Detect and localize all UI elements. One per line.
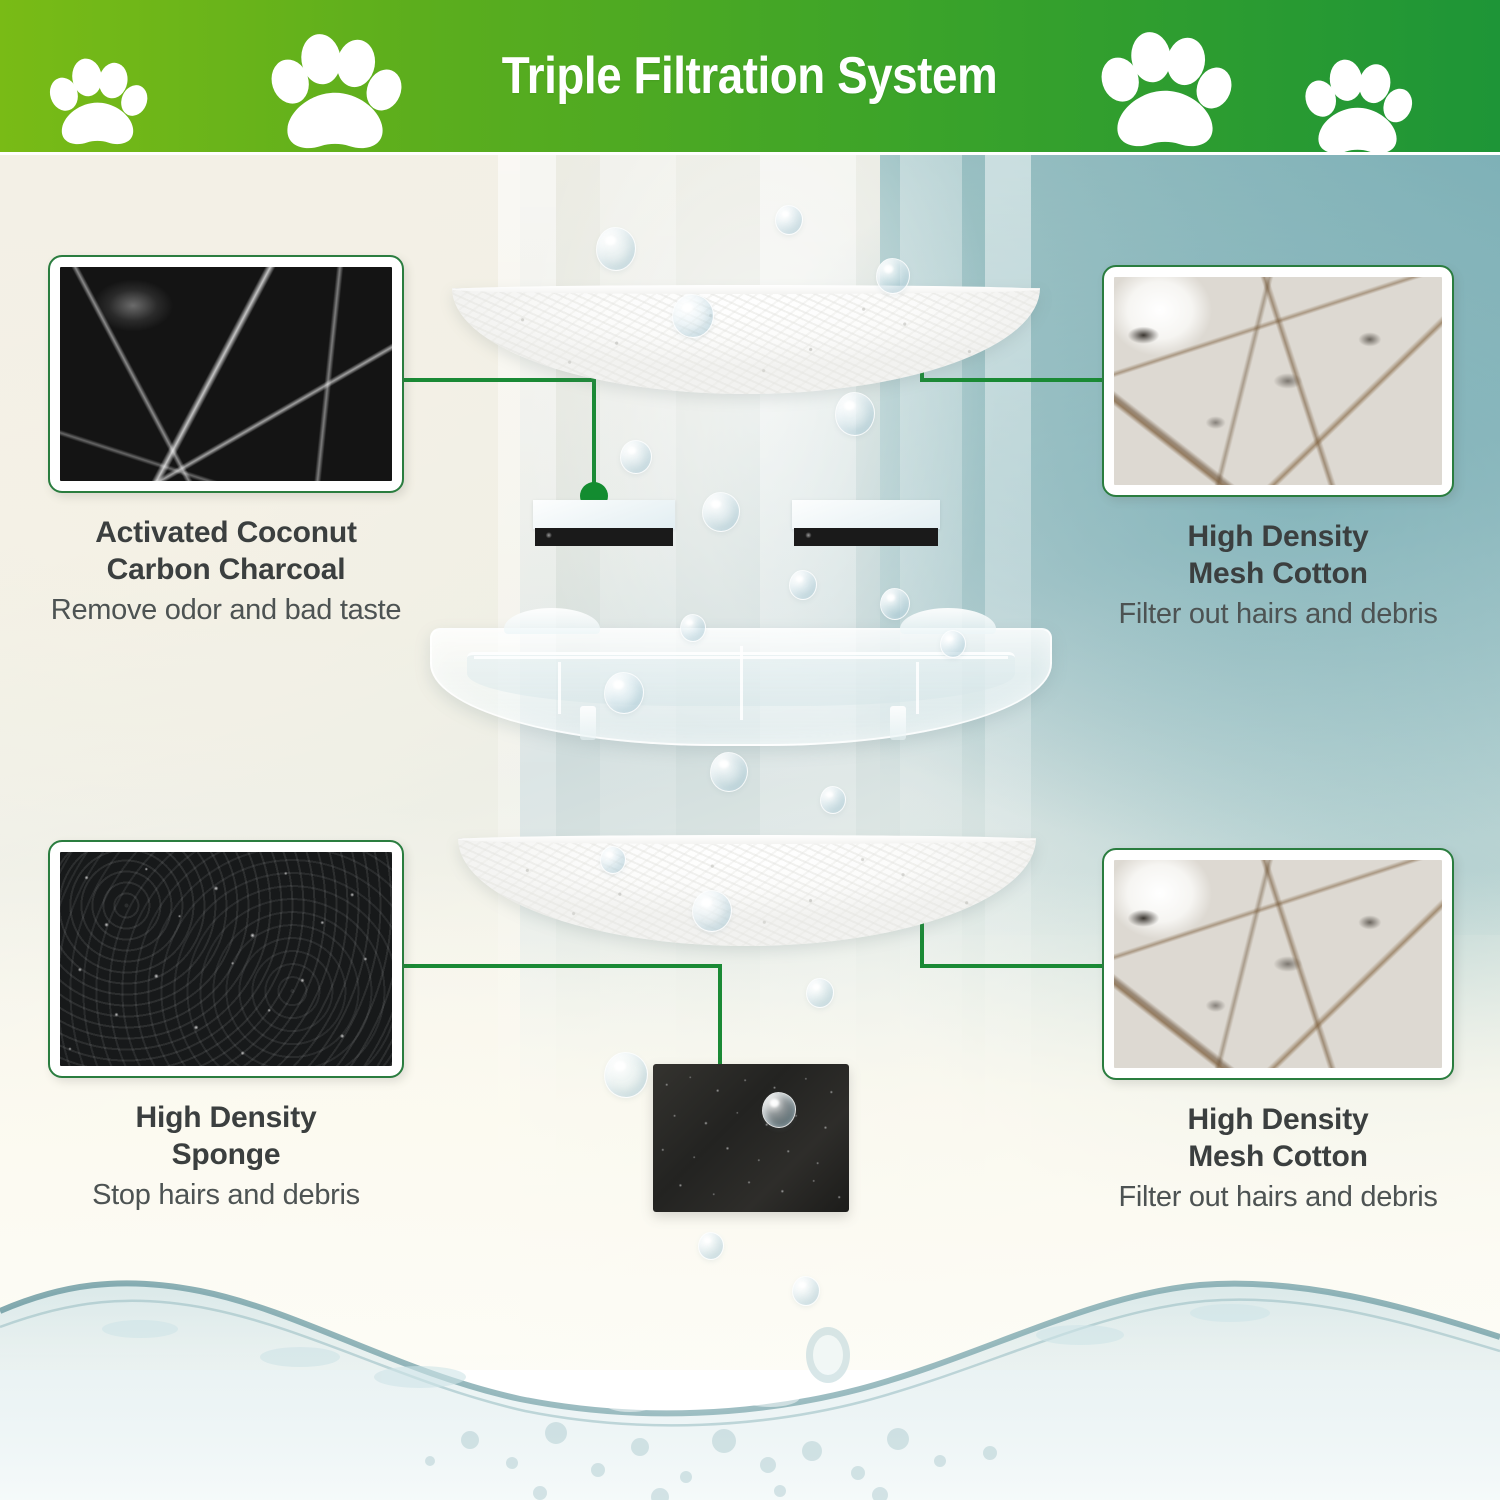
mesh-cotton-pad-bottom-edge bbox=[458, 835, 1036, 844]
card-title: High Density Sponge bbox=[48, 1100, 404, 1173]
water-bubble bbox=[806, 978, 834, 1008]
water-bubble bbox=[710, 752, 748, 792]
info-card-activated-carbon[interactable]: Activated Coconut Carbon Charcoal Remove… bbox=[48, 255, 404, 628]
water-bubble bbox=[600, 846, 626, 874]
card-title-line2: Mesh Cotton bbox=[1102, 1139, 1454, 1176]
card-title-line1: High Density bbox=[1102, 519, 1454, 556]
black-sponge-photo bbox=[60, 852, 392, 1066]
card-title-line1: Activated Coconut bbox=[48, 515, 404, 552]
water-surface-wave bbox=[0, 1265, 1500, 1500]
water-bubble bbox=[940, 630, 966, 658]
water-bubble bbox=[775, 205, 803, 235]
activated-carbon-strip-left bbox=[533, 500, 675, 546]
water-bubble bbox=[702, 492, 740, 532]
mesh-cotton-pad-top-edge bbox=[452, 285, 1040, 294]
card-subtitle: Stop hairs and debris bbox=[48, 1178, 404, 1213]
water-bubble bbox=[876, 258, 910, 294]
carbon-strip-right-granules bbox=[794, 528, 938, 546]
paw-print-icon bbox=[45, 48, 150, 152]
activated-carbon-strip-right bbox=[792, 500, 940, 546]
card-subtitle: Filter out hairs and debris bbox=[1102, 1180, 1454, 1215]
water-bubble bbox=[762, 1092, 796, 1128]
water-bubble bbox=[604, 672, 644, 714]
water-bubble bbox=[604, 1052, 648, 1098]
water-bubble bbox=[620, 440, 652, 474]
water-bubble bbox=[880, 588, 910, 620]
water-bubble bbox=[698, 1232, 724, 1260]
paw-print-icon bbox=[265, 20, 405, 152]
tray-divider-right bbox=[916, 662, 919, 714]
paw-print-icon bbox=[1095, 18, 1235, 152]
card-title-line2: Mesh Cotton bbox=[1102, 556, 1454, 593]
card-subtitle: Remove odor and bad taste bbox=[48, 593, 404, 628]
card-subtitle: Filter out hairs and debris bbox=[1102, 597, 1454, 632]
carbon-strip-left-top bbox=[533, 500, 675, 529]
tray-foot-left bbox=[580, 706, 596, 740]
water-bubble bbox=[596, 227, 636, 271]
infographic-canvas: Triple Filtration System bbox=[0, 0, 1500, 1500]
water-bubble bbox=[789, 570, 817, 600]
card-image-frame bbox=[48, 255, 404, 493]
carbon-strip-right-top bbox=[792, 500, 940, 529]
info-card-sponge[interactable]: High Density Sponge Stop hairs and debri… bbox=[48, 840, 404, 1213]
activated-charcoal-photo bbox=[60, 267, 392, 481]
card-title: High Density Mesh Cotton bbox=[1102, 1102, 1454, 1175]
connector-line-sponge bbox=[396, 964, 722, 968]
water-bubble bbox=[835, 392, 875, 436]
carbon-strip-left-granules bbox=[535, 528, 673, 546]
card-title-line2: Carbon Charcoal bbox=[48, 552, 404, 589]
connector-line-cotton-bottom bbox=[924, 964, 1108, 968]
mesh-cotton-pad-top bbox=[452, 288, 1040, 394]
header-banner: Triple Filtration System bbox=[0, 0, 1500, 152]
card-title: High Density Mesh Cotton bbox=[1102, 519, 1454, 592]
tray-divider-left bbox=[558, 662, 561, 714]
mesh-cotton-pad-bottom bbox=[458, 838, 1036, 946]
tray-rail bbox=[474, 656, 1008, 659]
page-title: Triple Filtration System bbox=[502, 46, 997, 106]
high-density-sponge-block bbox=[653, 1064, 849, 1212]
cotton-bolls-photo bbox=[1114, 277, 1442, 485]
info-card-mesh-cotton-top[interactable]: High Density Mesh Cotton Filter out hair… bbox=[1102, 265, 1454, 632]
card-image-frame bbox=[1102, 848, 1454, 1080]
card-image-frame bbox=[48, 840, 404, 1078]
cotton-bolls-photo bbox=[1114, 860, 1442, 1068]
card-title-line1: High Density bbox=[1102, 1102, 1454, 1139]
tray-foot-right bbox=[890, 706, 906, 740]
paw-print-icon bbox=[1300, 48, 1415, 152]
water-bubble bbox=[672, 294, 714, 338]
water-bubble bbox=[680, 614, 706, 642]
card-title: Activated Coconut Carbon Charcoal bbox=[48, 515, 404, 588]
water-bubble bbox=[820, 786, 846, 814]
info-card-mesh-cotton-bottom[interactable]: High Density Mesh Cotton Filter out hair… bbox=[1102, 848, 1454, 1215]
connector-line-carbon-vertical bbox=[592, 378, 596, 498]
water-bubble bbox=[692, 890, 732, 932]
card-title-line2: Sponge bbox=[48, 1137, 404, 1174]
card-image-frame bbox=[1102, 265, 1454, 497]
card-title-line1: High Density bbox=[48, 1100, 404, 1137]
